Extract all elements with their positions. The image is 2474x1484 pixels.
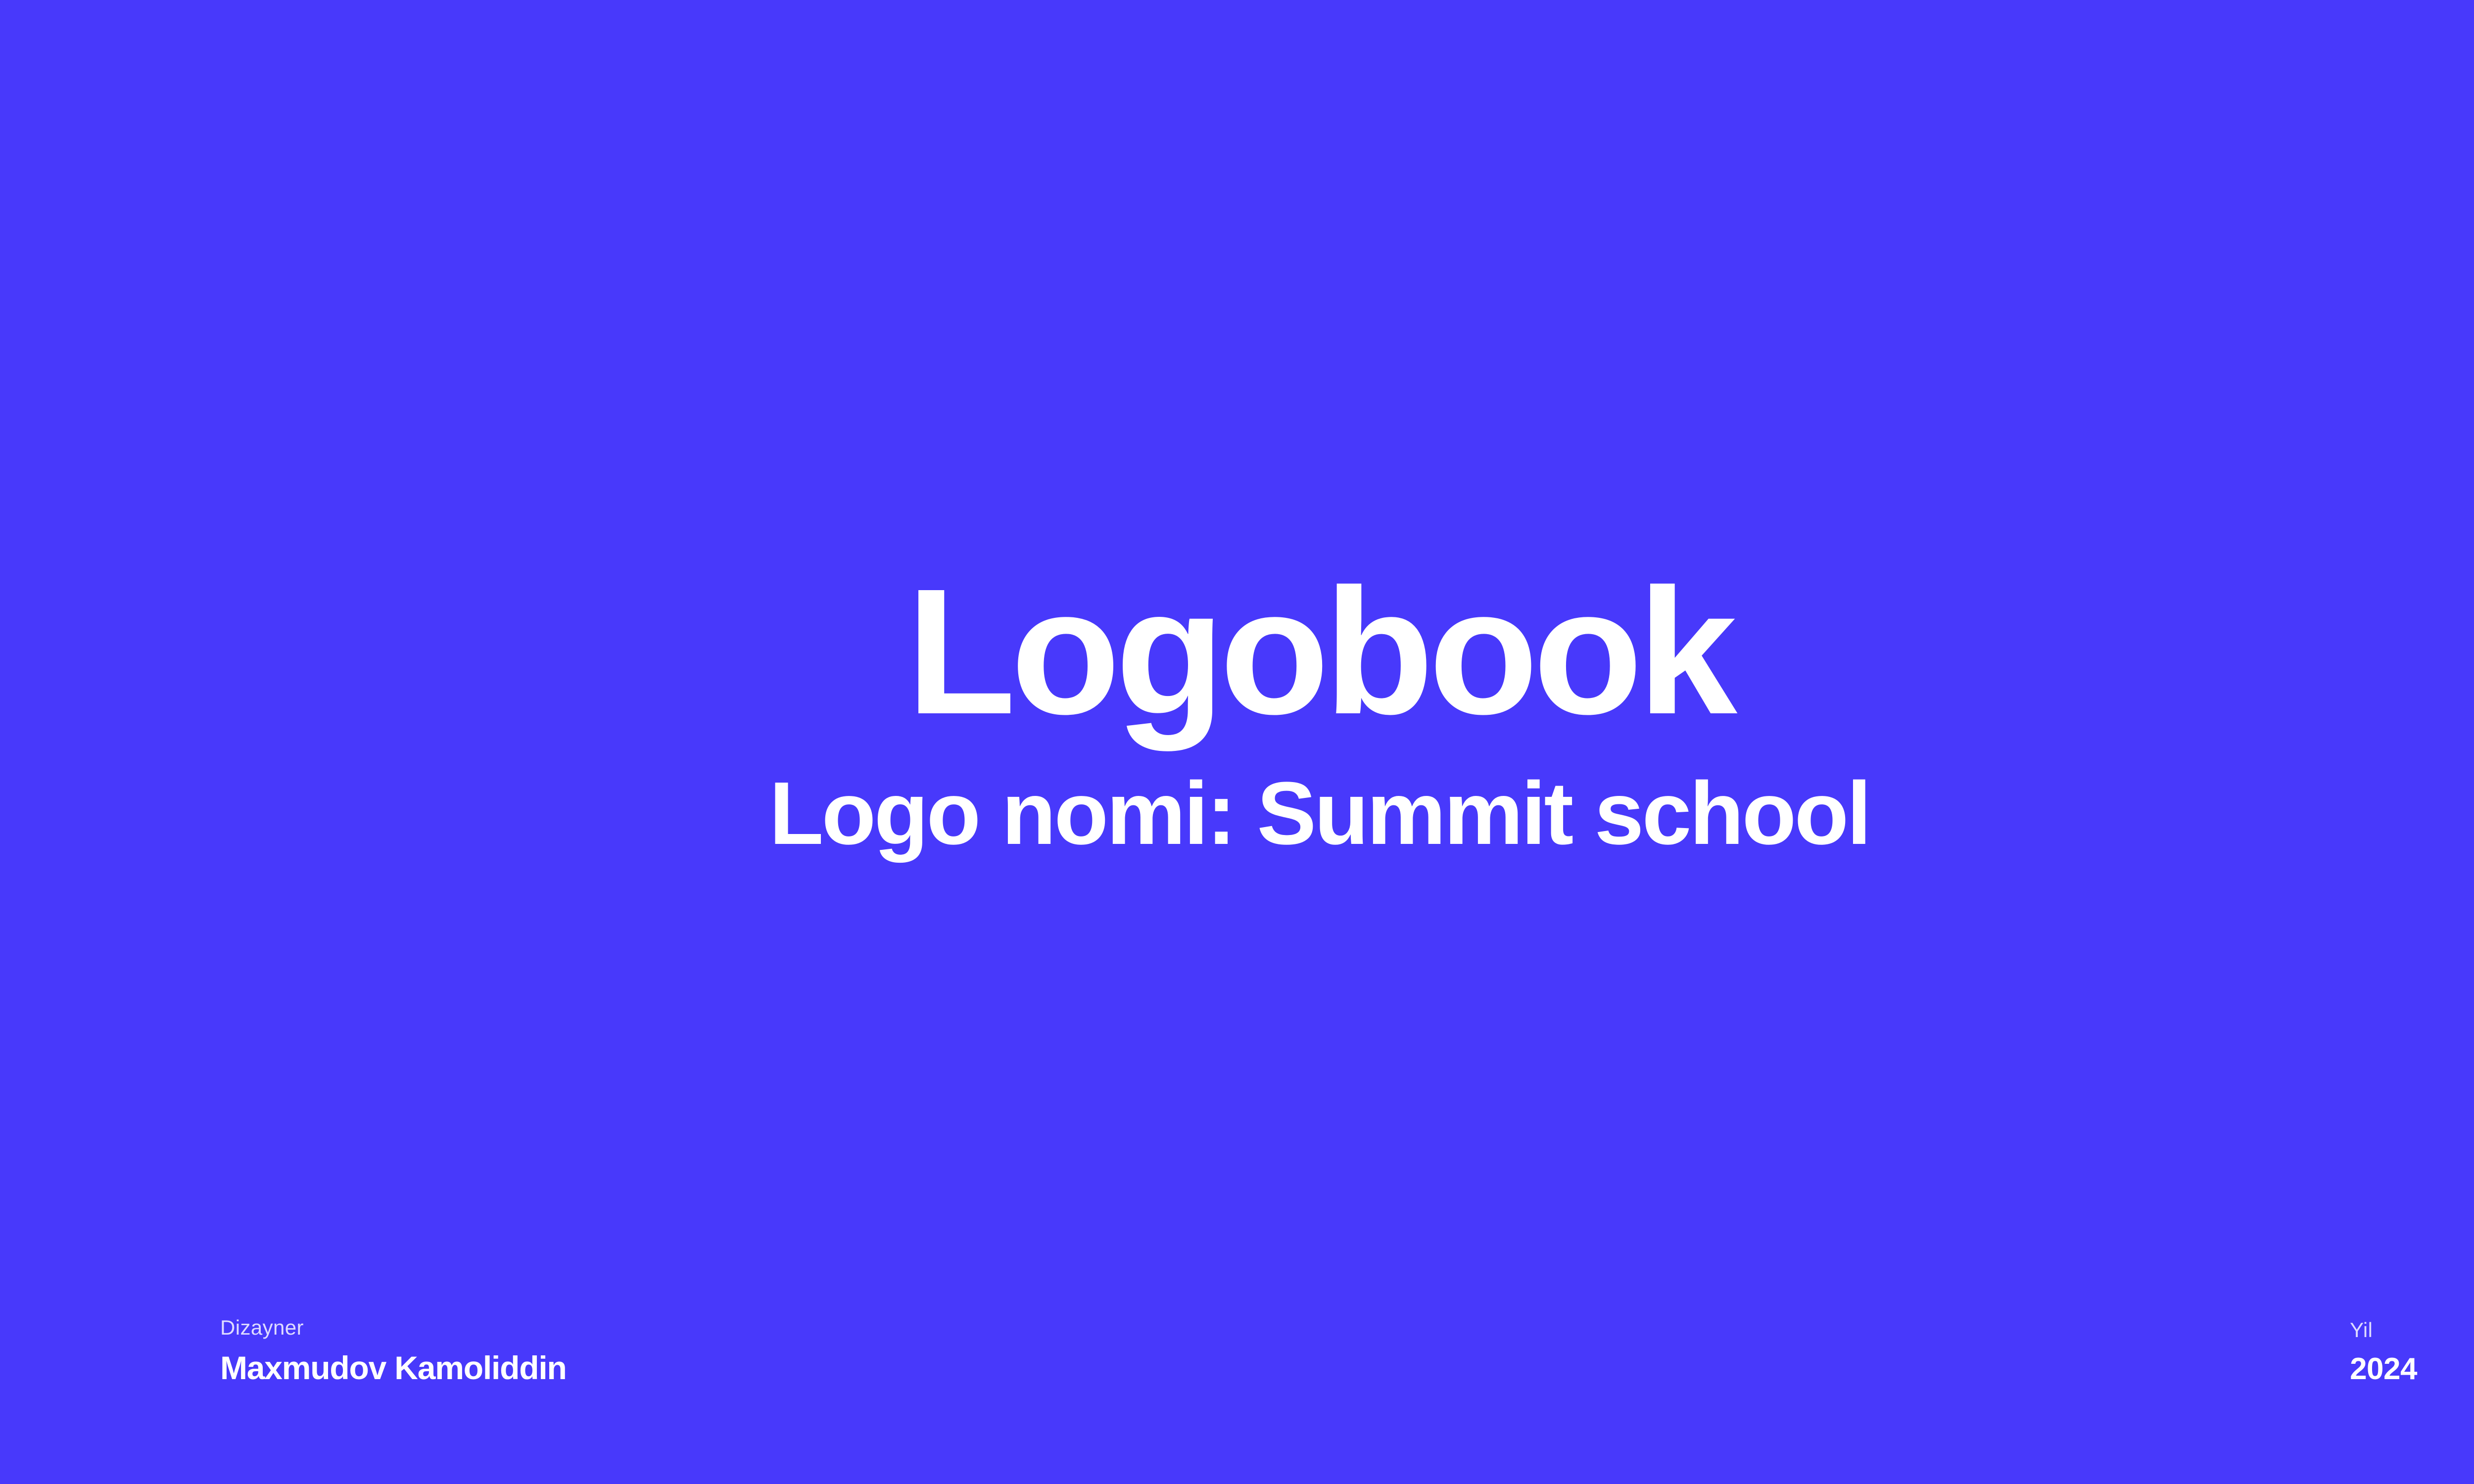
footer-meta-row: Dizayner Maxmudov Kamoliddin Yil 2024 — [220, 1316, 2417, 1385]
designer-name: Maxmudov Kamoliddin — [220, 1351, 567, 1385]
year-label: Yil — [2350, 1318, 2373, 1342]
year-block: Yil 2024 — [2350, 1318, 2417, 1385]
hero-block: Logobook Logo nomi: Summit school — [0, 569, 2474, 858]
page-subtitle: Logo nomi: Summit school — [769, 769, 1870, 858]
presentation-cover-slide: Logobook Logo nomi: Summit school Dizayn… — [0, 0, 2474, 1484]
year-value: 2024 — [2350, 1353, 2417, 1385]
designer-credit-block: Dizayner Maxmudov Kamoliddin — [220, 1316, 567, 1385]
page-title: Logobook — [906, 569, 1732, 734]
designer-label: Dizayner — [220, 1316, 304, 1340]
